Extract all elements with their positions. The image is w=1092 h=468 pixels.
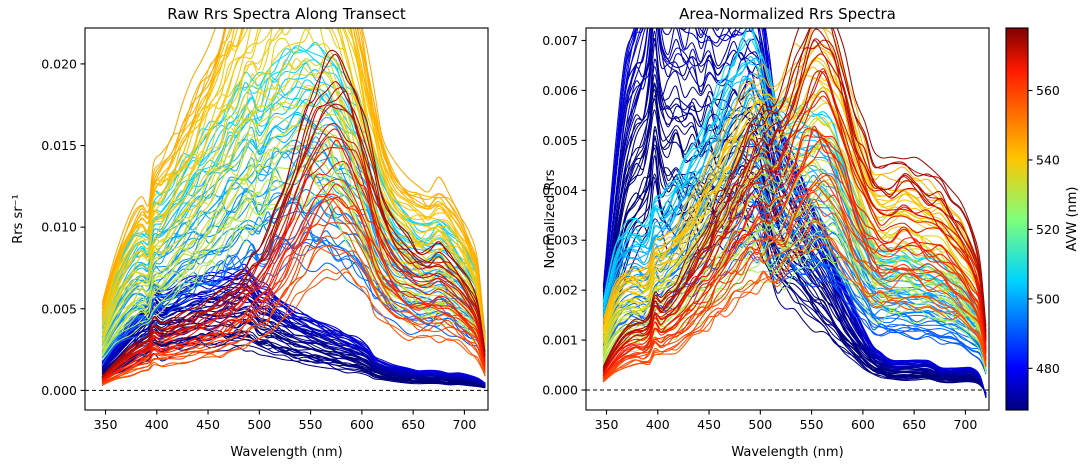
y-axis-label: Rrs sr⁻¹ [11, 194, 26, 243]
spectrum-line [102, 42, 484, 333]
x-tick-label: 500 [748, 417, 772, 432]
y-tick-label: 0.005 [41, 301, 77, 316]
x-tick-label: 700 [452, 417, 476, 432]
x-tick-label: 350 [94, 417, 118, 432]
y-tick-label: 0.000 [542, 383, 578, 398]
colorbar-label: AVW (nm) [1065, 187, 1080, 252]
x-tick-label: 600 [350, 417, 374, 432]
panel-title: Raw Rrs Spectra Along Transect [167, 5, 406, 23]
colorbar-tick-label: 500 [1036, 291, 1060, 306]
panel-raw-spectra: 3504004505005506006507000.0000.0050.0100… [11, 0, 488, 460]
y-tick-label: 0.007 [542, 33, 578, 48]
colorbar-gradient [1006, 28, 1028, 410]
y-tick-label: 0.001 [542, 333, 578, 348]
y-tick-label: 0.006 [542, 83, 578, 98]
x-tick-label: 600 [851, 417, 875, 432]
x-tick-label: 700 [953, 417, 977, 432]
y-tick-label: 0.000 [41, 383, 77, 398]
y-tick-label: 0.015 [41, 138, 77, 153]
y-tick-label: 0.002 [542, 283, 578, 298]
panel-title: Area-Normalized Rrs Spectra [679, 5, 896, 23]
colorbar-tick-label: 520 [1036, 222, 1060, 237]
x-tick-label: 450 [196, 417, 220, 432]
x-axis-label: Wavelength (nm) [731, 445, 843, 460]
x-tick-label: 650 [401, 417, 425, 432]
x-tick-label: 550 [299, 417, 323, 432]
spectra-lines [603, 0, 985, 398]
y-axis-label: Normalized Rrs [543, 169, 558, 268]
spectra-figure: 3504004505005506006507000.0000.0050.0100… [0, 0, 1092, 468]
spectra-lines [102, 0, 484, 388]
x-tick-label: 400 [646, 417, 670, 432]
y-tick-label: 0.010 [41, 220, 77, 235]
y-tick-label: 0.005 [542, 133, 578, 148]
figure-canvas: 3504004505005506006507000.0000.0050.0100… [0, 0, 1092, 468]
x-tick-label: 650 [902, 417, 926, 432]
x-tick-label: 450 [697, 417, 721, 432]
x-tick-label: 500 [247, 417, 271, 432]
x-axis-label: Wavelength (nm) [230, 445, 342, 460]
colorbar-tick-label: 480 [1036, 361, 1060, 376]
colorbar: 480500520540560AVW (nm) [1006, 28, 1080, 410]
x-tick-label: 400 [145, 417, 169, 432]
panel-normalized-spectra: 3504004505005506006507000.0000.0010.0020… [542, 0, 989, 460]
colorbar-tick-label: 560 [1036, 83, 1060, 98]
x-tick-label: 550 [800, 417, 824, 432]
y-tick-label: 0.020 [41, 56, 77, 71]
colorbar-tick-label: 540 [1036, 152, 1060, 167]
x-tick-label: 350 [595, 417, 619, 432]
